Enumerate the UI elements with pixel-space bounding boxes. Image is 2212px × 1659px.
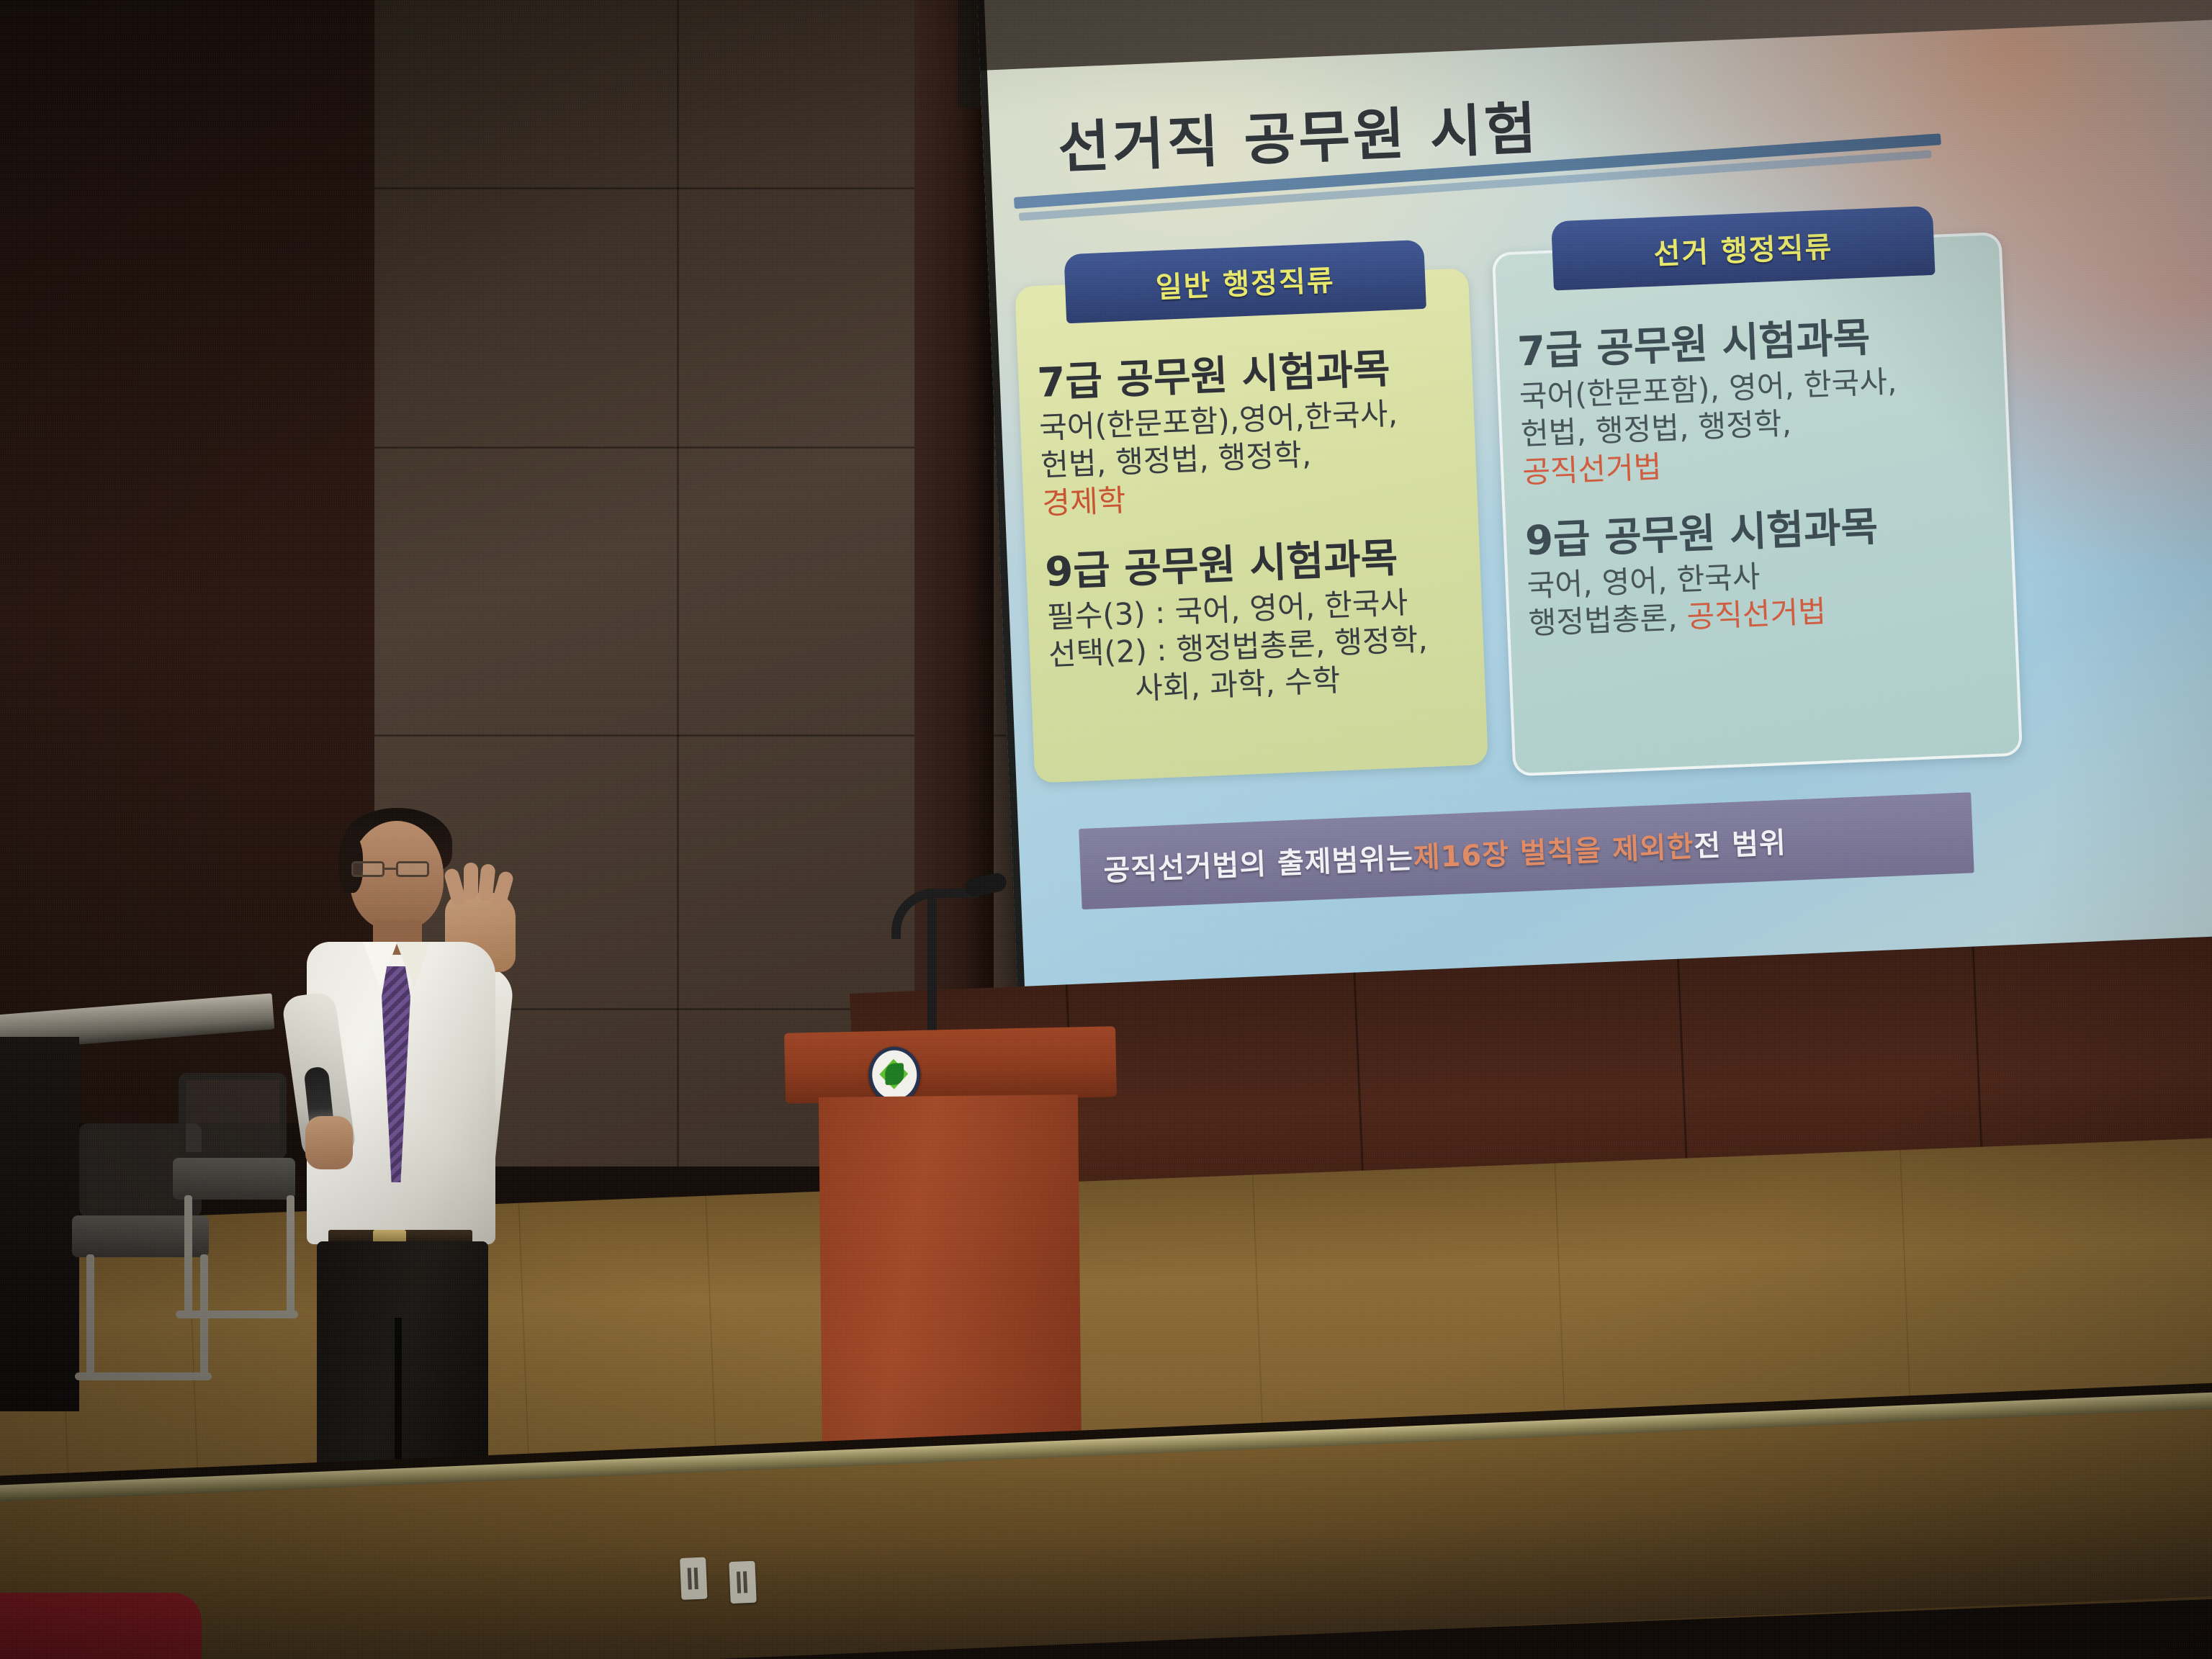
- screen-border: [976, 0, 2212, 1036]
- glasses-icon: [351, 861, 442, 877]
- presenter: [288, 814, 518, 1534]
- photo-scene: 선거직 공무원 시험 일반 행정직류 7급 공무원 시험과목 국어(한문포함),…: [0, 0, 2212, 1659]
- lectern-top: [784, 1026, 1117, 1104]
- microphone-stem: [927, 893, 937, 1037]
- projection-screen: 선거직 공무원 시험 일반 행정직류 7급 공무원 시험과목 국어(한문포함),…: [976, 0, 2212, 1036]
- audience-seat: [0, 1593, 202, 1659]
- presenter-mic-hand: [305, 1116, 353, 1169]
- power-outlet-icon: [729, 1561, 756, 1604]
- side-table-base: [0, 1037, 79, 1411]
- power-outlet-icon: [680, 1557, 707, 1600]
- wall-pillar: [914, 0, 994, 1123]
- leaf-emblem-icon: [868, 1046, 921, 1103]
